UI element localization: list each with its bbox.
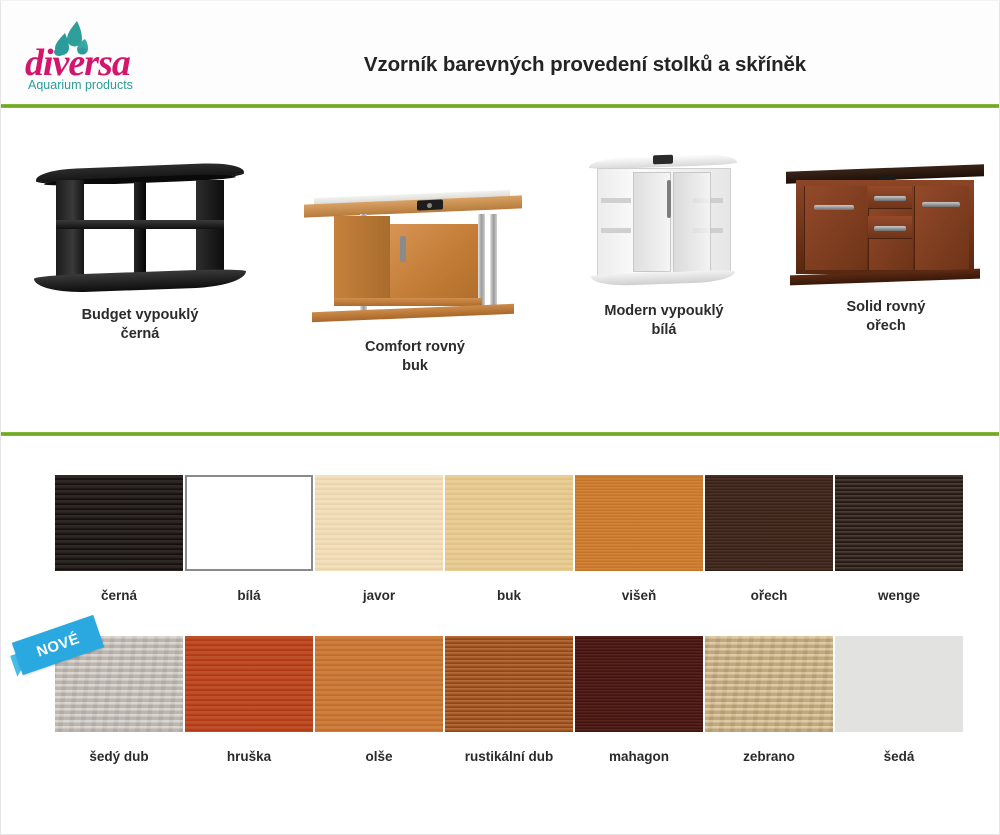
swatch-cell[interactable]: bílá bbox=[184, 475, 314, 603]
catalog-page: diversa Aquarium products Vzorník barevn… bbox=[0, 0, 1000, 835]
wood-grain-texture bbox=[705, 636, 833, 732]
swatch-label: wenge bbox=[834, 588, 964, 603]
swatch-row-standard: černábílájavorbukvišeňořechwenge bbox=[1, 475, 1000, 603]
swatch-label: olše bbox=[314, 749, 444, 764]
wood-grain-texture bbox=[705, 475, 833, 571]
color-swatch-wenge[interactable] bbox=[835, 475, 963, 571]
swatch-label: černá bbox=[54, 588, 184, 603]
color-swatch-mahagon[interactable] bbox=[575, 636, 703, 732]
color-swatch-zebrano[interactable] bbox=[705, 636, 833, 732]
swatch-label: mahagon bbox=[574, 749, 704, 764]
swatch-section: černábílájavorbukvišeňořechwenge šedý du… bbox=[1, 438, 1000, 834]
svg-text:Aquarium products: Aquarium products bbox=[28, 78, 133, 92]
product-card-comfort[interactable]: Comfort rovný buk bbox=[289, 186, 541, 376]
wood-grain-texture bbox=[575, 475, 703, 571]
swatch-cell[interactable]: buk bbox=[444, 475, 574, 603]
swatch-cell[interactable]: černá bbox=[54, 475, 184, 603]
swatch-label: zebrano bbox=[704, 749, 834, 764]
color-swatch-ořech[interactable] bbox=[705, 475, 833, 571]
swatch-cell[interactable]: wenge bbox=[834, 475, 964, 603]
swatch-label: šedá bbox=[834, 749, 964, 764]
page-title: Vzorník barevných provedení stolků a skř… bbox=[191, 53, 979, 77]
wood-grain-texture bbox=[835, 475, 963, 571]
products-section: Budget vypouklý černá Comfort rovný buk bbox=[1, 108, 1000, 432]
diversa-logo: diversa Aquarium products bbox=[19, 17, 179, 95]
divider-middle bbox=[1, 432, 999, 436]
color-swatch-buk[interactable] bbox=[445, 475, 573, 571]
row-leading-spacer bbox=[1, 475, 54, 603]
swatch-label: višeň bbox=[574, 588, 704, 603]
swatch-cell[interactable]: višeň bbox=[574, 475, 704, 603]
wood-grain-texture bbox=[445, 636, 573, 732]
product-card-budget[interactable]: Budget vypouklý černá bbox=[15, 158, 265, 344]
product-caption: Modern vypouklý bílá bbox=[549, 302, 779, 340]
wood-grain-texture bbox=[55, 475, 183, 571]
wood-grain-texture bbox=[315, 475, 443, 571]
swatch-cell[interactable]: rustikální dub bbox=[444, 636, 574, 764]
swatch-label: buk bbox=[444, 588, 574, 603]
swatch-label: bílá bbox=[184, 588, 314, 603]
swatch-cell[interactable]: olše bbox=[314, 636, 444, 764]
product-card-solid[interactable]: Solid rovný ořech bbox=[771, 160, 1000, 336]
color-swatch-černá[interactable] bbox=[55, 475, 183, 571]
product-caption: Budget vypouklý černá bbox=[15, 306, 265, 344]
wood-grain-texture bbox=[575, 636, 703, 732]
wood-grain-texture bbox=[185, 636, 313, 732]
color-swatch-bílá[interactable] bbox=[185, 475, 313, 571]
product-card-modern[interactable]: Modern vypouklý bílá bbox=[549, 146, 779, 340]
color-swatch-višeň[interactable] bbox=[575, 475, 703, 571]
cabinet-comfort-beech-image bbox=[304, 186, 526, 332]
swatch-cell[interactable]: zebrano bbox=[704, 636, 834, 764]
swatch-cell[interactable]: hruška bbox=[184, 636, 314, 764]
wood-grain-texture bbox=[445, 475, 573, 571]
color-swatch-olše[interactable] bbox=[315, 636, 443, 732]
color-swatch-šedá[interactable] bbox=[835, 636, 963, 732]
swatch-row-new: šedý dubhruškaolšerustikální dubmahagonz… bbox=[1, 636, 1000, 764]
cabinet-solid-walnut-image bbox=[786, 160, 986, 292]
swatch-label: hruška bbox=[184, 749, 314, 764]
cabinet-budget-black-image bbox=[34, 158, 246, 300]
wood-grain-texture bbox=[315, 636, 443, 732]
swatch-cell[interactable]: ořech bbox=[704, 475, 834, 603]
color-swatch-javor[interactable] bbox=[315, 475, 443, 571]
swatch-label: ořech bbox=[704, 588, 834, 603]
page-header: diversa Aquarium products Vzorník barevn… bbox=[1, 1, 999, 105]
color-swatch-rustikální-dub[interactable] bbox=[445, 636, 573, 732]
swatch-cell[interactable]: mahagon bbox=[574, 636, 704, 764]
product-caption: Comfort rovný buk bbox=[289, 338, 541, 376]
cabinet-modern-white-image bbox=[589, 146, 739, 296]
swatch-cell[interactable]: šedá bbox=[834, 636, 964, 764]
swatch-label: javor bbox=[314, 588, 444, 603]
color-swatch-hruška[interactable] bbox=[185, 636, 313, 732]
swatch-cell[interactable]: javor bbox=[314, 475, 444, 603]
swatch-label: šedý dub bbox=[54, 749, 184, 764]
new-badge-label: NOVÉ bbox=[34, 630, 81, 660]
product-caption: Solid rovný ořech bbox=[771, 298, 1000, 336]
swatch-label: rustikální dub bbox=[444, 749, 574, 764]
